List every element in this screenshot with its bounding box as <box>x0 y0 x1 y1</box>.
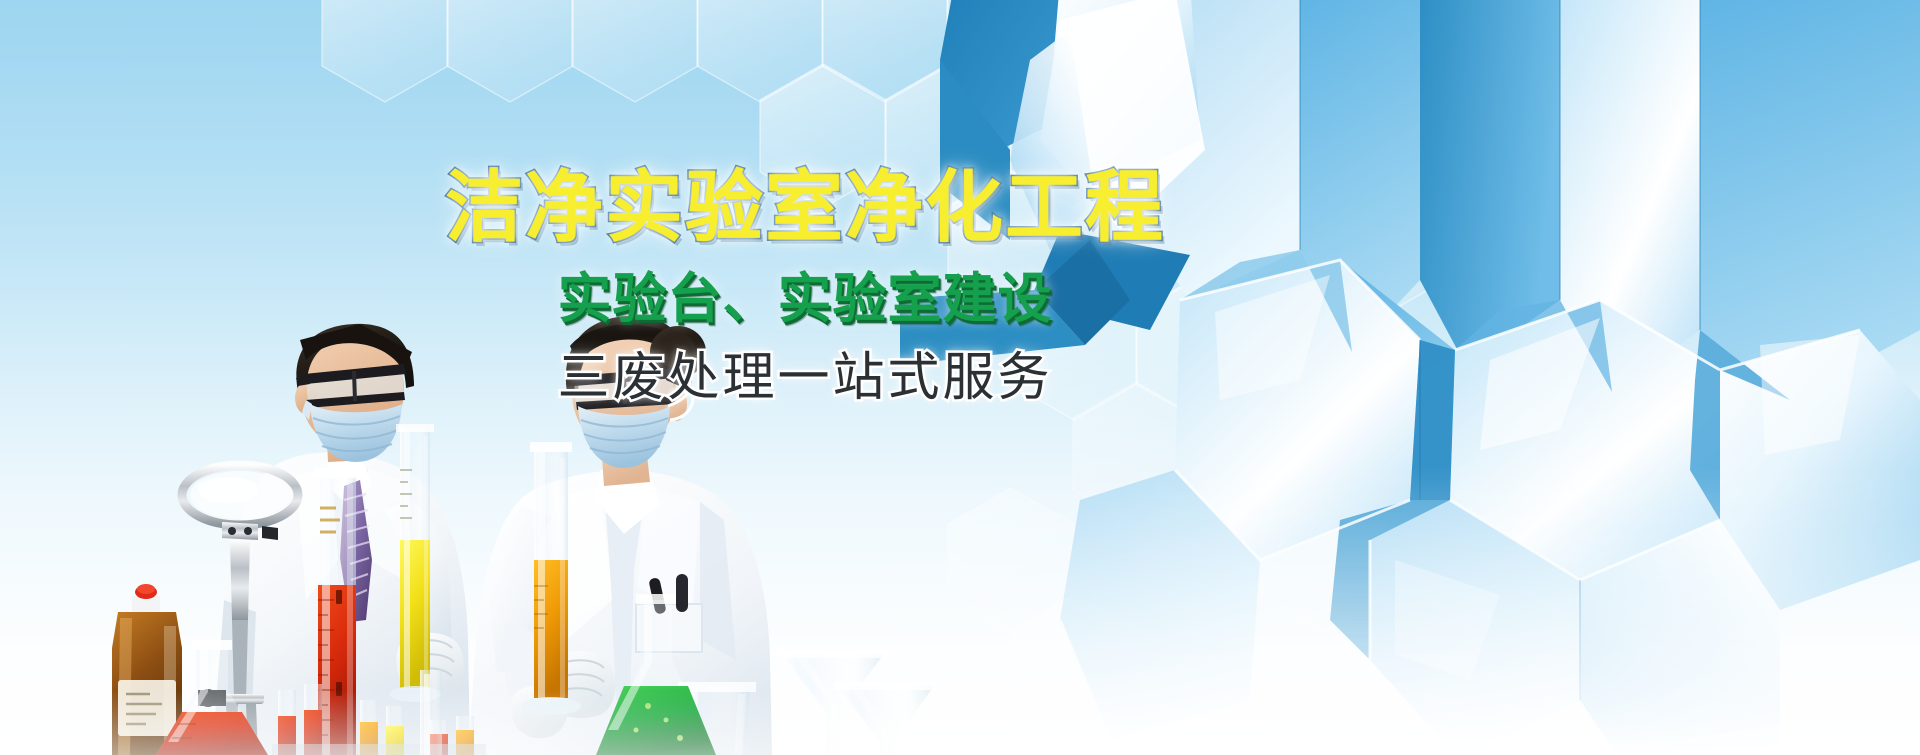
headline-block: 洁净实验室净化工程 实验台、实验室建设 三废处理一站式服务 <box>440 168 1170 404</box>
banner-subhead: 实验台、实验室建设 <box>440 272 1170 326</box>
banner-headline: 洁净实验室净化工程 <box>440 168 1170 246</box>
banner-tagline: 三废处理一站式服务 <box>440 352 1170 404</box>
promotional-banner: 洁净实验室净化工程 实验台、实验室建设 三废处理一站式服务 <box>0 0 1920 755</box>
